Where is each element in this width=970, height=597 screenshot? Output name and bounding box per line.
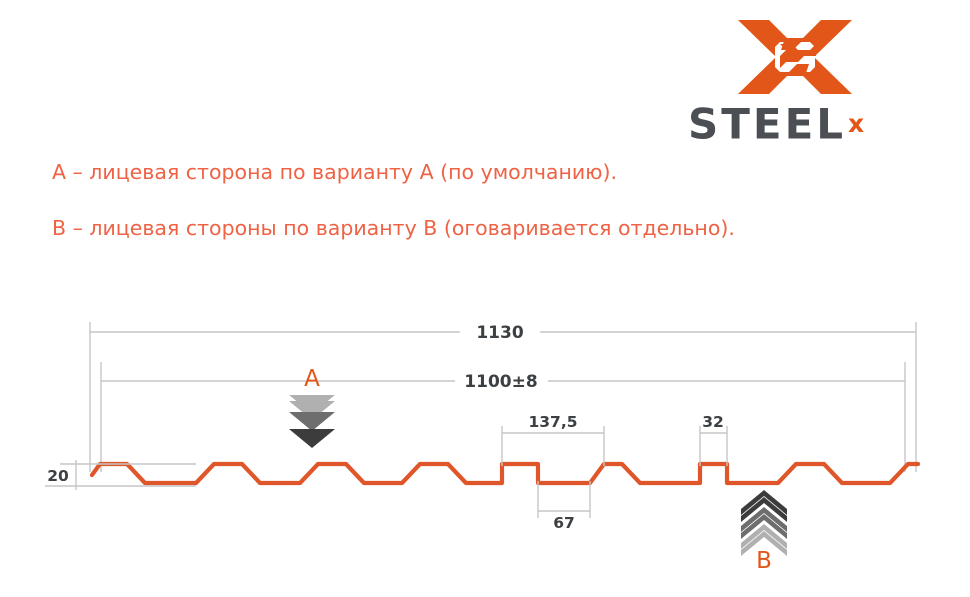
logo-word-text: STEEL [688, 99, 846, 148]
chevron-up-icon [741, 490, 787, 556]
note-variant-b: В – лицевая стороны по варианту В (огова… [52, 216, 735, 240]
brand-logo: STEELx [688, 18, 904, 146]
marker-side-b: B [741, 490, 787, 574]
page-root: STEELx А – лицевая сторона по варианту А… [0, 0, 970, 597]
dimension-overall-width: 1130 [90, 323, 916, 343]
chevron-down-icon [289, 395, 335, 448]
profile-drawing: 1130 1100±8 20 [0, 300, 970, 590]
steelx-x-mark-icon [736, 18, 854, 96]
dimension-profile-height: 20 [45, 460, 196, 490]
dimension-label-rib-pitch: 137,5 [528, 413, 577, 431]
dimension-cover-width: 1100±8 [101, 372, 905, 392]
dimension-valley-width: 67 [538, 481, 590, 532]
dimension-rib-pitch: 137,5 [502, 413, 604, 466]
note-variant-a: А – лицевая сторона по варианту А (по ум… [52, 160, 617, 184]
logo-superscript-x: x [848, 109, 864, 138]
marker-label-a: A [304, 366, 320, 392]
dimension-label-valley-width: 67 [553, 514, 575, 532]
dimension-rib-top-width: 32 [700, 413, 727, 466]
dimension-label-overall-width: 1130 [476, 323, 523, 343]
logo-wordmark: STEELx [688, 102, 904, 146]
dimension-label-cover-width: 1100±8 [464, 372, 537, 392]
marker-label-b: B [756, 548, 772, 574]
witness-lines [90, 322, 916, 472]
profile-cross-section [92, 464, 918, 483]
dimension-label-profile-height: 20 [47, 467, 69, 485]
marker-side-a: A [289, 366, 335, 448]
dimension-label-rib-top-width: 32 [702, 413, 724, 431]
